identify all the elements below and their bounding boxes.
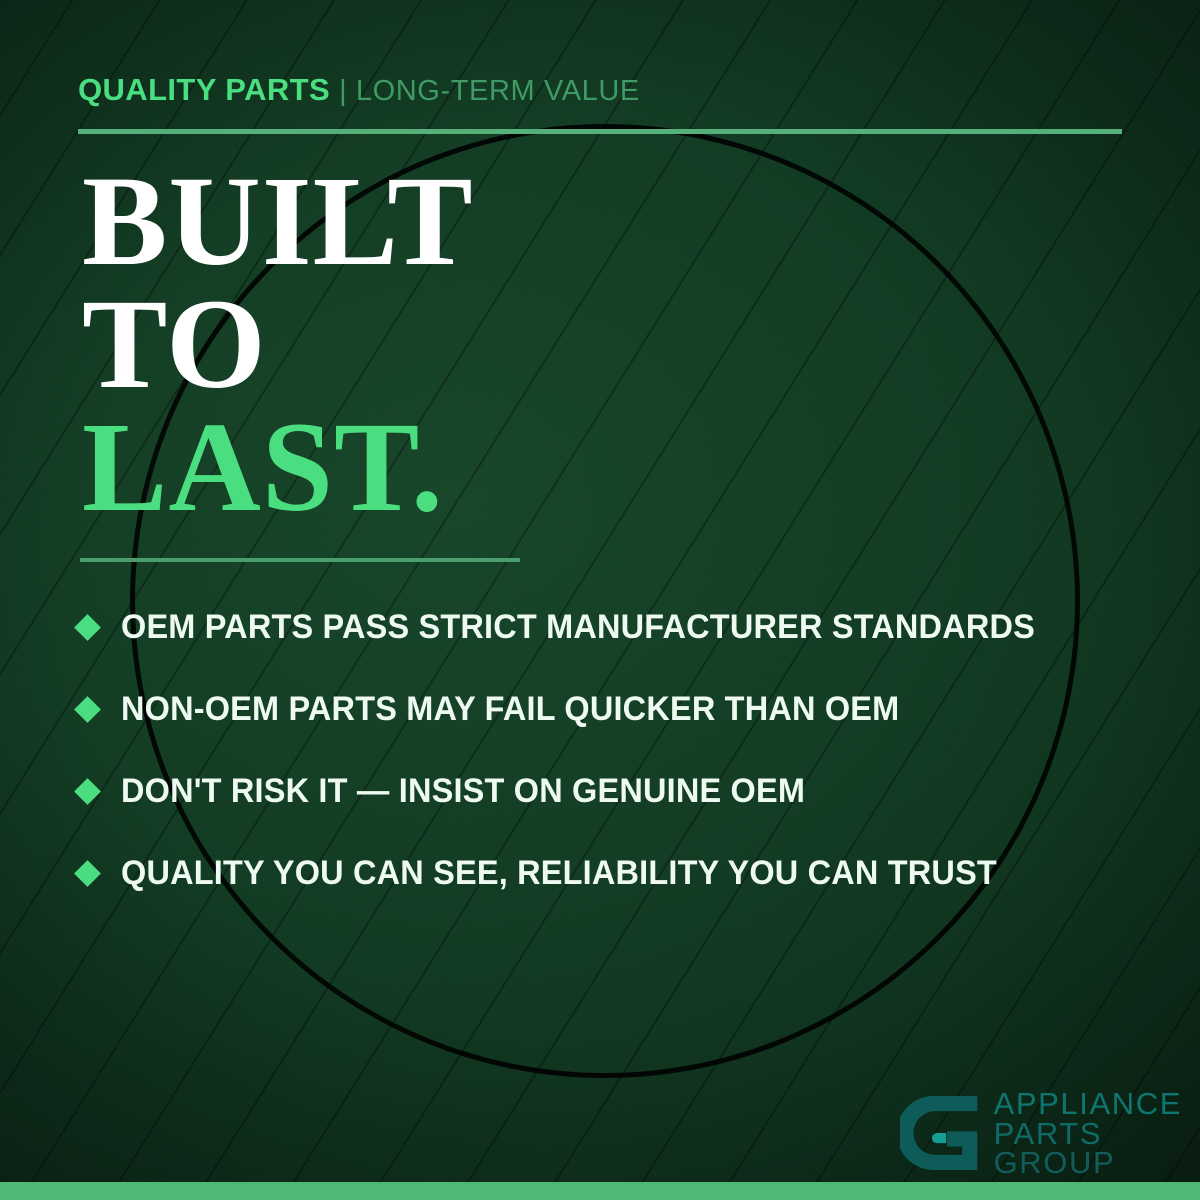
brand-word-line-1: APPLIANCE xyxy=(994,1089,1182,1119)
diamond-icon xyxy=(74,860,101,887)
poster-canvas: QUALITY PARTS| LONG-TERM VALUE BUILT TO … xyxy=(0,0,1200,1200)
list-item: DON'T RISK IT — INSIST ON GENUINE OEM xyxy=(78,750,1148,832)
headline-line-3: LAST. xyxy=(82,406,474,529)
divider-middle xyxy=(80,558,520,562)
divider-top xyxy=(78,129,1122,134)
benefit-list: OEM PARTS PASS STRICT MANUFACTURER STAND… xyxy=(78,586,1148,914)
diamond-icon xyxy=(74,696,101,723)
diamond-icon xyxy=(74,778,101,805)
list-item: NON-OEM PARTS MAY FAIL QUICKER THAN OEM xyxy=(78,668,1148,750)
g-monogram-icon xyxy=(900,1091,984,1175)
bottom-accent-bar xyxy=(0,1182,1200,1200)
list-item-label: NON-OEM PARTS MAY FAIL QUICKER THAN OEM xyxy=(121,690,899,729)
brand-word-line-3: GROUP xyxy=(994,1148,1182,1178)
list-item-label: OEM PARTS PASS STRICT MANUFACTURER STAND… xyxy=(121,608,1035,647)
list-item-label: QUALITY YOU CAN SEE, RELIABILITY YOU CAN… xyxy=(121,854,997,893)
poster-content: QUALITY PARTS| LONG-TERM VALUE BUILT TO … xyxy=(0,0,1200,1200)
list-item: QUALITY YOU CAN SEE, RELIABILITY YOU CAN… xyxy=(78,832,1148,914)
brand-logo-watermark: APPLIANCE PARTS GROUP xyxy=(900,1087,1182,1178)
headline-line-2: TO xyxy=(82,283,474,406)
list-item-label: DON'T RISK IT — INSIST ON GENUINE OEM xyxy=(121,772,805,811)
eyebrow-strong-text: QUALITY PARTS xyxy=(78,72,330,107)
eyebrow: QUALITY PARTS| LONG-TERM VALUE xyxy=(78,74,640,106)
brand-wordmark: APPLIANCE PARTS GROUP xyxy=(994,1087,1182,1178)
eyebrow-light-text: | LONG-TERM VALUE xyxy=(339,75,640,107)
diamond-icon xyxy=(74,614,101,641)
brand-word-line-2: PARTS xyxy=(994,1119,1182,1149)
list-item: OEM PARTS PASS STRICT MANUFACTURER STAND… xyxy=(78,586,1148,668)
headline-line-1: BUILT xyxy=(82,160,474,283)
page-title: BUILT TO LAST. xyxy=(82,160,474,529)
